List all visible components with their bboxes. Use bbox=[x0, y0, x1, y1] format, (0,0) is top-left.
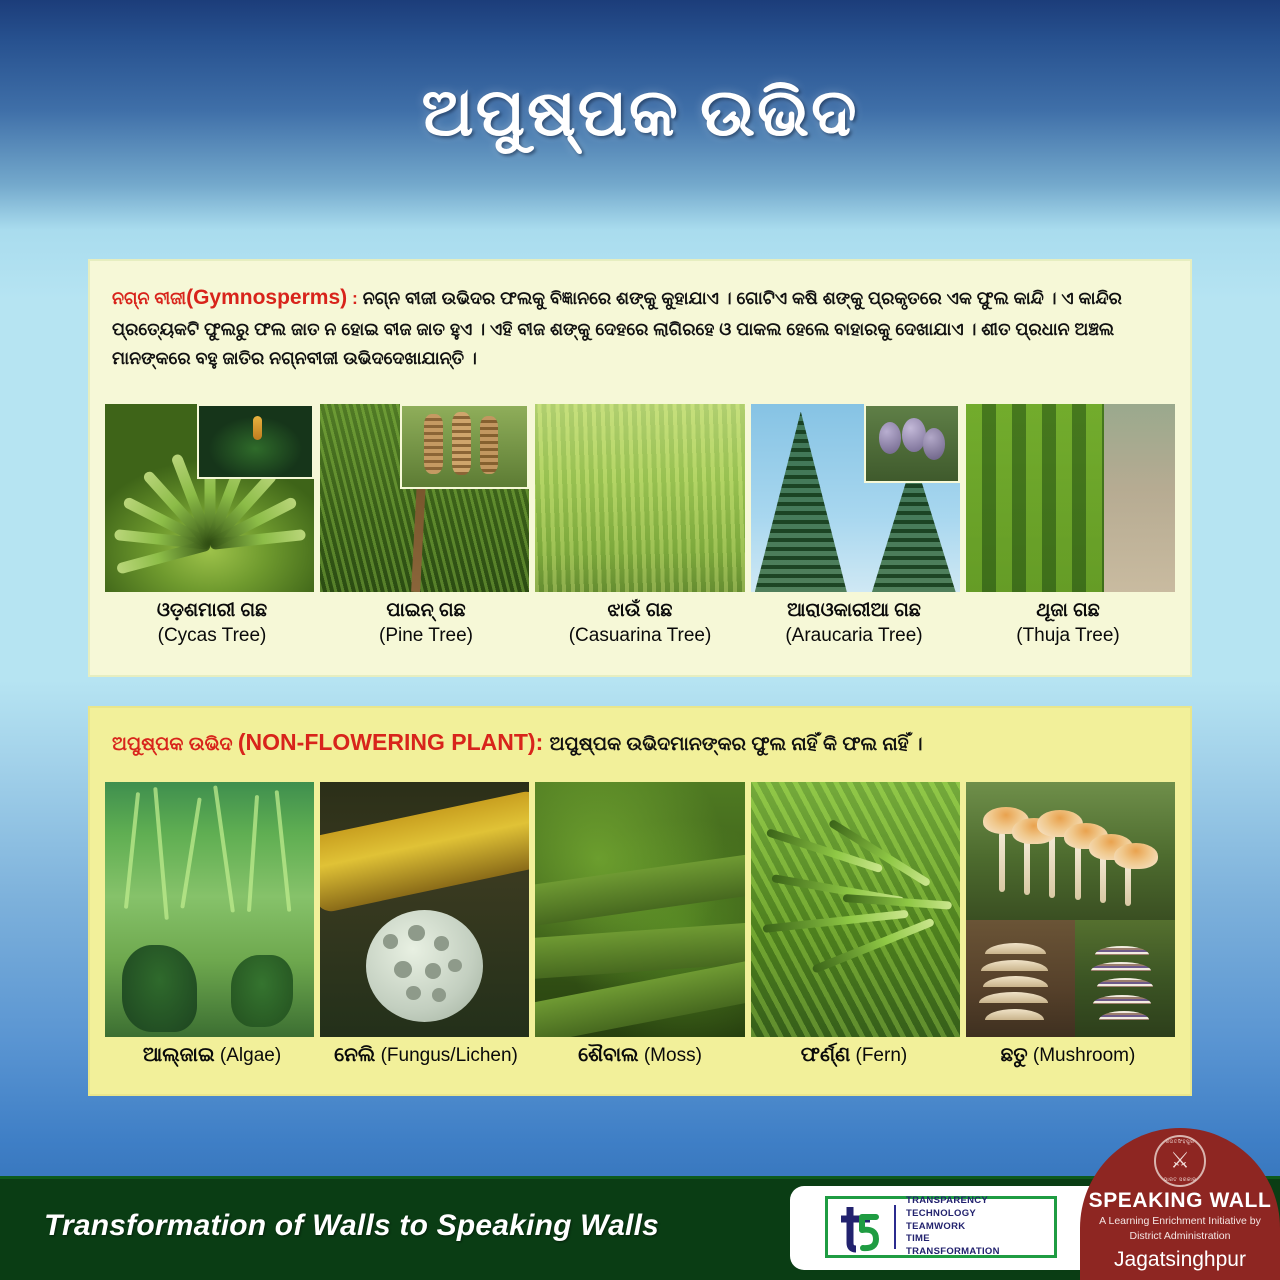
seal-subtitle-line1: A Learning Enrichment Initiative by bbox=[1080, 1215, 1280, 1228]
caption-english: (Fern) bbox=[856, 1045, 908, 1066]
caption-araucaria-tree: ଆରାଓକାରୀଆ ଗଛ (Araucaria Tree) bbox=[747, 598, 961, 648]
lichen-scene bbox=[320, 782, 529, 1037]
caption-thuja-tree: ଥୂଜା ଗଛ (Thuja Tree) bbox=[961, 598, 1175, 648]
caption-cycas-tree: ଓଡ଼ଶମାରୀ ଗଛ (Cycas Tree) bbox=[105, 598, 319, 648]
mushroom-cluster-scene bbox=[966, 782, 1175, 920]
caption-english: (Cycas Tree) bbox=[105, 624, 319, 649]
caption-lichen: ନେଲି (Fungus/Lichen) bbox=[319, 1044, 533, 1067]
caption-english: (Mushroom) bbox=[1033, 1045, 1135, 1066]
caption-odia: ନେଲି bbox=[334, 1044, 375, 1066]
caption-odia: ପାଇନ୍ ଗଛ bbox=[319, 598, 533, 624]
thuja-scene bbox=[966, 404, 1175, 592]
caption-algae: ଆଲ୍‌ଜାଇ (Algae) bbox=[105, 1044, 319, 1067]
image-lichen-photo bbox=[320, 782, 529, 1037]
oyster-mushroom-sub-photo bbox=[966, 920, 1075, 1037]
lion-capital-glyph: ⚔ bbox=[1170, 1150, 1190, 1172]
image-moss-photo bbox=[535, 782, 744, 1037]
gymnosperms-heading-odia: ନଗ୍ନ ବୀଜୀ bbox=[112, 288, 186, 308]
t5-word-teamwork: TEAMWORK bbox=[906, 1221, 1000, 1234]
caption-odia: ଛତୁ bbox=[1001, 1044, 1028, 1066]
caption-english: (Pine Tree) bbox=[319, 624, 533, 649]
image-mushroom-photo bbox=[966, 782, 1175, 1037]
caption-odia: ଫର୍ଣ୍ଣ bbox=[801, 1044, 850, 1066]
t5-logo: TRANSPARENCY TECHNOLOGY TEAMWORK TIME TR… bbox=[825, 1196, 1057, 1258]
caption-english: (Fungus/Lichen) bbox=[381, 1045, 518, 1066]
image-cycas-tree-photo bbox=[105, 404, 314, 592]
caption-odia: ଆରାଓକାରୀଆ ଗଛ bbox=[747, 598, 961, 624]
pine-cone-inset bbox=[400, 404, 530, 489]
casuarina-scene bbox=[535, 404, 744, 592]
image-algae-photo bbox=[105, 782, 314, 1037]
caption-english: (Moss) bbox=[644, 1045, 702, 1066]
caption-english: (Algae) bbox=[220, 1045, 281, 1066]
gymnosperms-heading-english: (Gymnosperms) bbox=[186, 286, 347, 309]
seal-district-name: Jagatsinghpur bbox=[1080, 1248, 1280, 1272]
seal-subtitle-line2: District Administration bbox=[1080, 1230, 1280, 1243]
image-casuarina-tree-photo bbox=[535, 404, 744, 592]
caption-english: (Thuja Tree) bbox=[961, 624, 1175, 649]
caption-odia: ଝାଉଁ ଗଛ bbox=[533, 598, 747, 624]
t5-word-time: TIME bbox=[906, 1233, 1000, 1246]
seal-title: SPEAKING WALL bbox=[1080, 1189, 1280, 1213]
caption-odia: ଓଡ଼ଶମାରୀ ଗଛ bbox=[105, 598, 319, 624]
caption-pine-tree: ପାଇନ୍ ଗଛ (Pine Tree) bbox=[319, 598, 533, 648]
image-araucaria-tree-photo bbox=[751, 404, 960, 592]
nonflowering-body-text: ଅପୁଷ୍ପକ ଉଭିଦମାନଙ୍କର ଫୁଲ ନାହିଁ କି ଫଲ ନାହି… bbox=[550, 734, 923, 755]
nonflowering-image-strip bbox=[105, 782, 1175, 1037]
gymnosperms-captions: ଓଡ଼ଶମାରୀ ଗଛ (Cycas Tree) ପାଇନ୍ ଗଛ (Pine … bbox=[105, 598, 1175, 648]
t5-word-transformation: TRANSFORMATION bbox=[906, 1246, 1000, 1259]
speaking-wall-seal: ଜଗତସିଂହପୁର ⚔ ଭାରତ ସରକାର SPEAKING WALL A … bbox=[1080, 1128, 1280, 1280]
image-thuja-tree-photo bbox=[966, 404, 1175, 592]
caption-odia: ଆଲ୍‌ଜାଇ bbox=[143, 1044, 215, 1066]
image-pine-tree-photo bbox=[320, 404, 529, 592]
caption-english: (Casuarina Tree) bbox=[533, 624, 747, 649]
nonflowering-heading-odia: ଅପୁଷ୍ପକ ଉଭିଦ bbox=[112, 734, 233, 755]
government-emblem-icon: ଜଗତସିଂହପୁର ⚔ ଭାରତ ସରକାର bbox=[1154, 1135, 1206, 1187]
cycas-cone-inset bbox=[197, 404, 314, 479]
gymnosperms-colon: : bbox=[347, 288, 363, 308]
t5-monogram-icon bbox=[828, 1199, 894, 1255]
t5-word-transparency: TRANSPARENCY bbox=[906, 1195, 1000, 1208]
caption-odia: ଶୈବାଲ bbox=[578, 1044, 639, 1066]
emblem-ring-text-bottom: ଭାରତ ସରକାର bbox=[1156, 1177, 1204, 1183]
turkey-tail-fungus-sub-photo bbox=[1075, 920, 1175, 1037]
nonflowering-heading-english: (NON-FLOWERING PLANT) bbox=[238, 729, 536, 755]
fern-scene bbox=[751, 782, 960, 1037]
caption-mushroom: ଛତୁ (Mushroom) bbox=[961, 1044, 1175, 1067]
moss-scene bbox=[535, 782, 744, 1037]
caption-moss: ଶୈବାଲ (Moss) bbox=[533, 1044, 747, 1067]
nonflowering-captions: ଆଲ୍‌ଜାଇ (Algae) ନେଲି (Fungus/Lichen) ଶୈବ… bbox=[105, 1044, 1175, 1067]
nonflowering-colon: : bbox=[536, 729, 550, 755]
caption-fern: ଫର୍ଣ୍ଣ (Fern) bbox=[747, 1044, 961, 1067]
caption-odia: ଥୂଜା ଗଛ bbox=[961, 598, 1175, 624]
t5-word-technology: TECHNOLOGY bbox=[906, 1208, 1000, 1221]
page-title: ଅପୁଷ୍ପକ ଉଭିଦ bbox=[0, 76, 1280, 149]
algae-scene bbox=[105, 782, 314, 1037]
caption-english: (Araucaria Tree) bbox=[747, 624, 961, 649]
lichen-disc bbox=[366, 910, 483, 1022]
footer-tagline: Transformation of Walls to Speaking Wall… bbox=[44, 1209, 659, 1243]
image-fern-photo bbox=[751, 782, 960, 1037]
araucaria-cone-inset bbox=[864, 404, 960, 483]
gymnosperms-image-strip bbox=[105, 404, 1175, 592]
caption-casuarina-tree: ଝାଉଁ ଗଛ (Casuarina Tree) bbox=[533, 598, 747, 648]
gymnosperms-paragraph: ନଗ୍ନ ବୀଜୀ(Gymnosperms) : ନଗ୍ନ ବୀଜୀ ଉଭିଦର… bbox=[90, 261, 1190, 372]
nonflowering-heading: ଅପୁଷ୍ପକ ଉଭିଦ (NON-FLOWERING PLANT): ଅପୁଷ… bbox=[90, 708, 1190, 759]
emblem-ring-text-top: ଜଗତସିଂହପୁର bbox=[1156, 1139, 1204, 1145]
t5-words: TRANSPARENCY TECHNOLOGY TEAMWORK TIME TR… bbox=[896, 1195, 1000, 1258]
